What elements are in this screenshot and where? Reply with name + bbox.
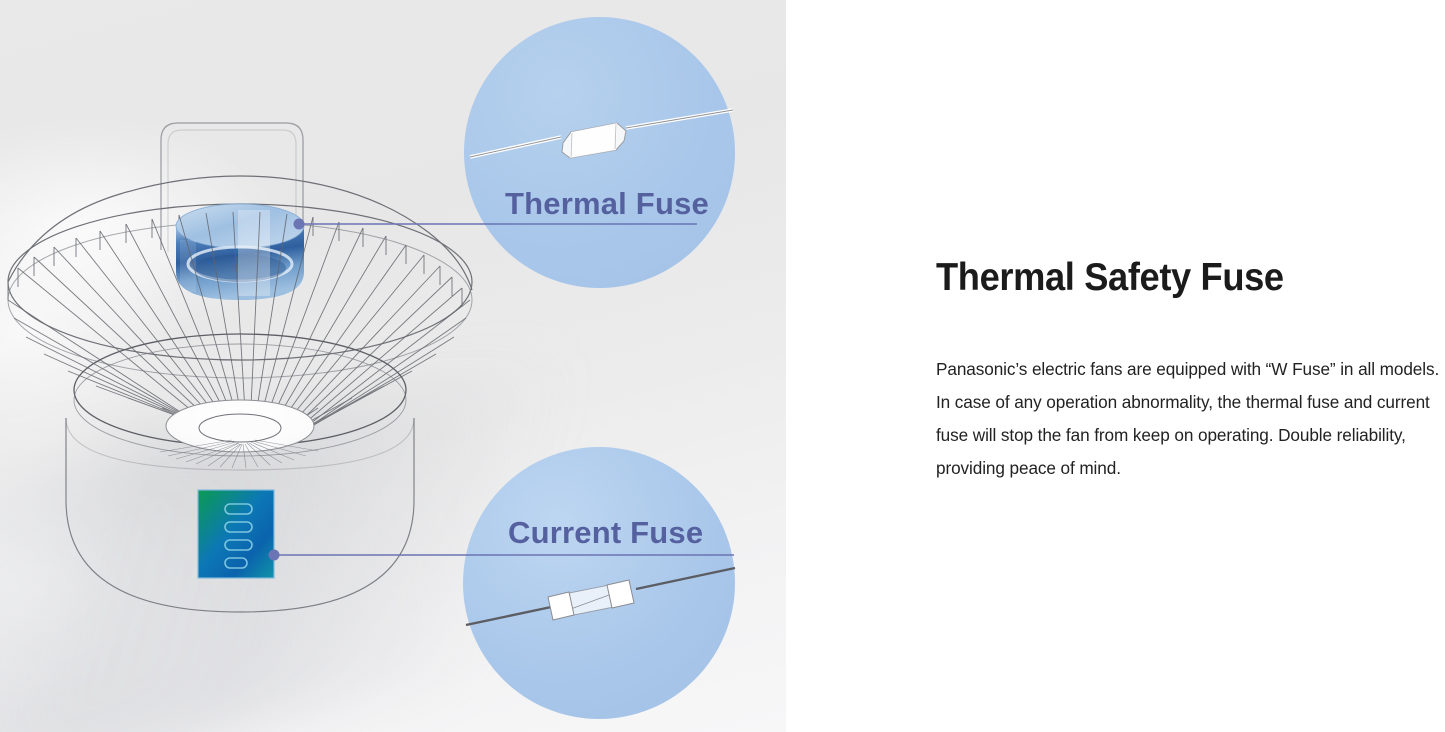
current-fuse-leader-line (269, 550, 735, 561)
current-fuse-label: Current Fuse (508, 515, 703, 551)
thermal-fuse-label: Thermal Fuse (505, 186, 709, 222)
current-fuse-icon (466, 568, 735, 625)
page-title: Thermal Safety Fuse (936, 255, 1420, 301)
callout-leader-lines (0, 0, 786, 732)
feature-text-panel: Thermal Safety Fuse Panasonic’s electric… (786, 0, 1445, 732)
product-feature-page: Thermal Fuse Current Fuse Thermal Safety… (0, 0, 1445, 732)
thermal-fuse-icon (470, 110, 733, 158)
feature-description: Panasonic’s electric fans are equipped w… (936, 353, 1445, 485)
fan-illustration-panel: Thermal Fuse Current Fuse (0, 0, 786, 732)
